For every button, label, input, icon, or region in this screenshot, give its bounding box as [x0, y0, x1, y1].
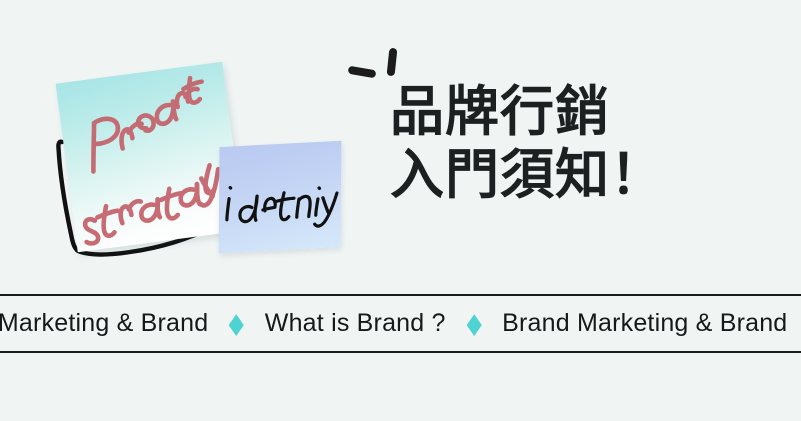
marquee-separator-diamond-icon: ◆: [229, 294, 244, 353]
sticky-note-identity: [219, 141, 342, 254]
page-title-line-1: 品牌行銷: [390, 80, 610, 143]
marquee-band: Brand Marketing & Brand◆What is Brand ?◆…: [0, 294, 801, 353]
page-root: 品牌行銷 入門須知！ Brand Marketing & Brand◆What …: [0, 0, 801, 421]
tick-mark-angled: [348, 66, 377, 79]
page-title-line-2: 入門須知！: [390, 143, 790, 206]
marquee-item: Brand Marketing & Brand: [0, 296, 208, 351]
hero-section: 品牌行銷 入門須知！: [0, 0, 801, 295]
handwriting-identity: [219, 141, 342, 254]
tick-mark-vertical: [387, 48, 398, 77]
marquee-separator-diamond-icon: ◆: [466, 294, 481, 353]
marquee-track: Brand Marketing & Brand◆What is Brand ?◆…: [0, 296, 787, 351]
handwriting-product-strategy: [56, 62, 245, 252]
marquee-item: Brand Marketing & Brand: [502, 296, 787, 351]
sticky-note-product-strategy: [56, 62, 245, 252]
marquee-item: What is Brand ?: [265, 296, 446, 351]
page-title: 品牌行銷 入門須知！: [390, 80, 790, 206]
